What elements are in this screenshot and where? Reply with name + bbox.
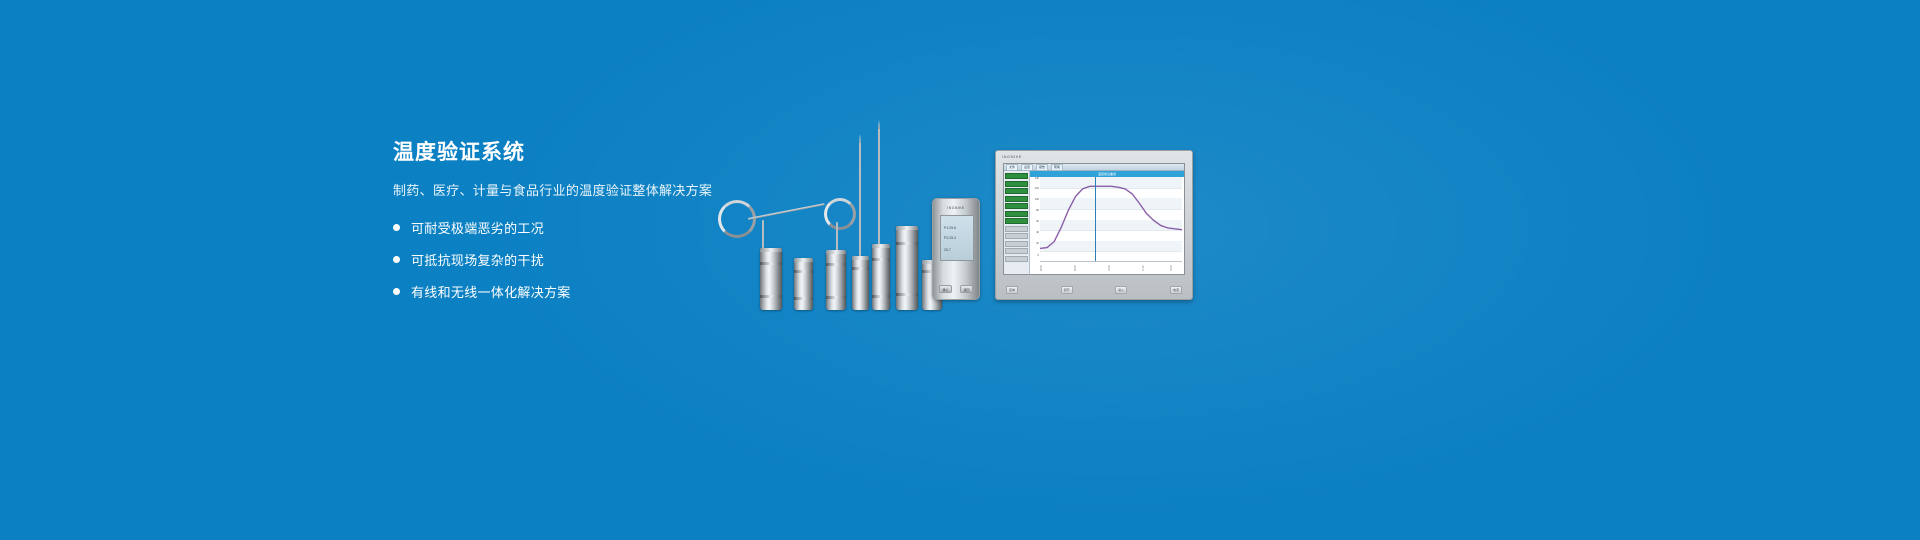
list-item[interactable]	[1005, 196, 1028, 202]
feature-label: 可抵抗现场复杂的干扰	[411, 250, 544, 269]
y-tick-label: 140	[1035, 177, 1039, 180]
list-item[interactable]	[1005, 241, 1028, 247]
logger-band	[872, 258, 890, 261]
handheld-screen-line: P2:25.4	[944, 236, 956, 240]
list-item[interactable]	[1005, 256, 1028, 262]
x-tick-label: 12:00	[1171, 265, 1173, 271]
list-item[interactable]	[1005, 181, 1028, 187]
handheld-screen-line: P1:25.6	[944, 226, 956, 230]
list-item[interactable]	[1005, 233, 1028, 239]
temperature-chart: 温度验证曲线 140 120 100 80 60 40 20 0	[1030, 171, 1184, 274]
list-item[interactable]	[1005, 218, 1028, 224]
handheld-brand-label: INGNIKE	[933, 206, 979, 210]
logger-band	[760, 295, 782, 298]
logger-band	[794, 297, 813, 300]
data-logger-cylinder	[760, 248, 782, 310]
channel-list-sidebar[interactable]	[1004, 171, 1030, 274]
dot-bullet-icon	[393, 224, 400, 231]
data-logger-cylinder	[794, 258, 813, 310]
monitor-adjust-button[interactable]: 调节	[1061, 286, 1073, 294]
tab-settings[interactable]: 设置	[1021, 164, 1033, 171]
hero-banner: 温度验证系统 制药、医疗、计量与食品行业的温度验证整体解决方案 可耐受极端恶劣的…	[0, 0, 1920, 540]
y-tick-label: 120	[1035, 187, 1039, 190]
x-tick-label: 11:00	[1143, 265, 1145, 271]
x-tick-label: 08:00	[1041, 265, 1043, 271]
monitor-brand-label: INGNIKE	[1002, 154, 1022, 159]
data-logger-cylinder	[852, 256, 869, 310]
list-item[interactable]	[1005, 248, 1028, 254]
y-tick-label: 80	[1036, 209, 1039, 212]
needle-probe-tip-icon	[878, 120, 880, 129]
software-toolbar[interactable]: 文件 设置 报告 帮助	[1004, 164, 1184, 171]
y-tick-label: 60	[1036, 220, 1039, 223]
tab-file[interactable]: 文件	[1006, 164, 1018, 171]
x-tick-label: 10:00	[1109, 265, 1111, 271]
logger-band	[872, 295, 890, 298]
list-item[interactable]	[1005, 211, 1028, 217]
data-logger-cylinder	[896, 226, 918, 310]
needle-probe-tip-icon	[859, 134, 861, 143]
feature-label: 可耐受极端恶劣的工况	[411, 218, 544, 237]
handheld-screen: P1:25.6 P2:25.4 25.7	[940, 215, 974, 261]
data-logger-cylinder	[826, 250, 846, 310]
coiled-probe-icon	[824, 198, 856, 230]
monitor-display: INGNIKE 文件 设置 报告 帮助	[995, 150, 1193, 300]
product-photo-group: INGNIKE P1:25.6 P2:25.4 25.7 确认 返回 INGNI…	[700, 120, 1220, 310]
logger-band	[794, 270, 813, 273]
monitor-bezel-controls[interactable]: 菜单 调节 输入 电源	[1006, 286, 1182, 294]
y-tick-label: 40	[1036, 231, 1039, 234]
handheld-key-back[interactable]: 返回	[960, 285, 973, 293]
feature-label: 有线和无线一体化解决方案	[411, 282, 571, 301]
tab-help[interactable]: 帮助	[1051, 164, 1063, 171]
chart-cursor-line[interactable]	[1095, 177, 1096, 262]
x-tick-label: 09:00	[1075, 265, 1077, 271]
logger-band	[896, 242, 918, 245]
monitor-input-button[interactable]: 输入	[1115, 286, 1127, 294]
logger-band	[826, 296, 846, 299]
y-tick-label: 20	[1036, 242, 1039, 245]
logger-band	[826, 263, 846, 266]
list-item[interactable]	[1005, 226, 1028, 232]
monitor-screen[interactable]: 文件 设置 报告 帮助	[1003, 163, 1185, 275]
logger-band	[760, 262, 782, 265]
list-item[interactable]	[1005, 173, 1028, 179]
monitor-menu-button[interactable]: 菜单	[1006, 286, 1018, 294]
logger-band	[852, 267, 869, 270]
chart-y-axis: 140 120 100 80 60 40 20 0	[1030, 177, 1040, 262]
monitor-power-button[interactable]: 电源	[1170, 286, 1182, 294]
dot-bullet-icon	[393, 288, 400, 295]
series-ch1-polyline	[1040, 186, 1182, 248]
list-item[interactable]	[1005, 188, 1028, 194]
y-tick-label: 0	[1038, 254, 1039, 257]
dot-bullet-icon	[393, 256, 400, 263]
software-body: 温度验证曲线 140 120 100 80 60 40 20 0	[1004, 171, 1184, 274]
probe-wire	[748, 203, 825, 220]
needle-probe-long	[859, 142, 861, 268]
list-item[interactable]	[1005, 203, 1028, 209]
tab-report[interactable]: 报告	[1036, 164, 1048, 171]
y-tick-label: 100	[1035, 198, 1039, 201]
handheld-key-confirm[interactable]: 确认	[939, 285, 952, 293]
chart-x-axis: 08:00 09:00 10:00 11:00 12:00	[1040, 261, 1182, 271]
logger-band	[896, 293, 918, 296]
handheld-keypad[interactable]: 确认 返回	[939, 285, 973, 293]
handheld-screen-line: 25.7	[944, 248, 951, 252]
handheld-reader-device[interactable]: INGNIKE P1:25.6 P2:25.4 25.7 确认 返回	[932, 198, 980, 300]
chart-series-line	[1040, 177, 1182, 262]
data-logger-cylinder	[872, 244, 890, 310]
